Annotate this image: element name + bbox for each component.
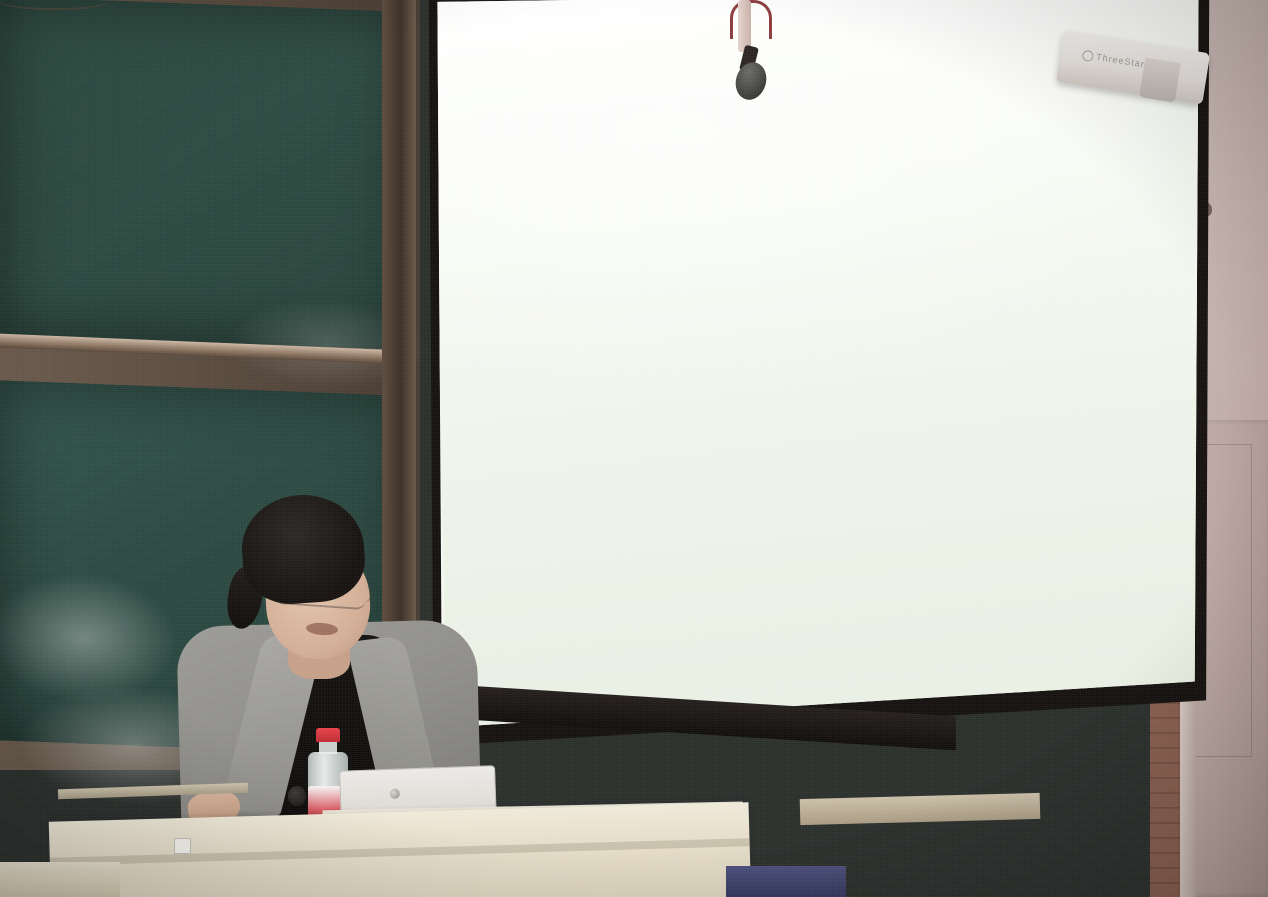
quote-block-2: “认识机械运动， 是科学的第一个任务 ” ——恩格斯《自然辩证法》 [727, 227, 1160, 373]
quote-2-line-1: “认识机械运动， [727, 236, 958, 275]
lecture-hall-photo: 西安电子科技大学 XIDIAN UNIVERSITY 结束语 卡尔·马克思 （1… [0, 0, 1268, 897]
portrait-collar [535, 275, 593, 345]
brand-mark-icon [1082, 50, 1095, 63]
presentation-slide[interactable]: 西安电子科技大学 XIDIAN UNIVERSITY 结束语 卡尔·马克思 （1… [432, 0, 1204, 732]
microphone-head [731, 59, 770, 104]
background-bench [800, 793, 1041, 825]
quote-1-attribution: ——马克思，剩余价值理论（马克思、恩格斯合集26卷P116） [691, 130, 1168, 205]
left-desk [0, 862, 120, 897]
laptop-hinge [390, 789, 400, 799]
right-desk-blue-panel [726, 866, 846, 897]
portrait-eye [546, 163, 562, 170]
projector-screen-roller-endcap [1139, 57, 1181, 102]
hanging-microphone-icon [718, 0, 778, 115]
desk-microphone-base [288, 786, 306, 806]
university-seal-icon [494, 0, 545, 41]
projector-screen-surface[interactable]: 西安电子科技大学 XIDIAN UNIVERSITY 结束语 卡尔·马克思 （1… [432, 0, 1204, 732]
chalkboard-upper-panel [0, 0, 402, 350]
bottle-cap [316, 728, 340, 742]
caption-years: （1820年-1895年） [1029, 541, 1199, 570]
chalk-smudge [0, 570, 178, 707]
caption-marx: 卡尔·马克思 （1818年-1883年） [461, 345, 677, 401]
caption-name: 恩格斯 [1029, 515, 1199, 544]
quote-2-line-2: 是科学的第一个任务 ” [760, 271, 1159, 322]
quote-1-text: 力学是 “大工业的真正科学的基础 [646, 83, 1113, 127]
portrait-eye [584, 159, 600, 166]
quote-3-line-3: 论，即天体的和地上物体的力学。” [517, 527, 1044, 586]
bottle-neck [319, 741, 337, 754]
podium-asset-tag [174, 838, 191, 854]
caption-engels: 恩格斯 （1820年-1895年） [1029, 515, 1200, 570]
quote-block-3: “在自然科学的历史发展中最先发展 起来的是关于简单的位置移动的理 论，即天体的和… [481, 430, 1044, 587]
caption-years: （1818年-1883年） [462, 371, 677, 401]
microphone-stem [738, 0, 751, 52]
quote-1-attribution-text: ——马克思，剩余价值理论 [691, 137, 967, 169]
lecturer-hair [238, 491, 367, 607]
microphone-cable [730, 0, 772, 39]
wall-trim-strip [1180, 690, 1196, 897]
portrait-marx [466, 75, 662, 346]
slide-accent-stripes [438, 0, 499, 38]
